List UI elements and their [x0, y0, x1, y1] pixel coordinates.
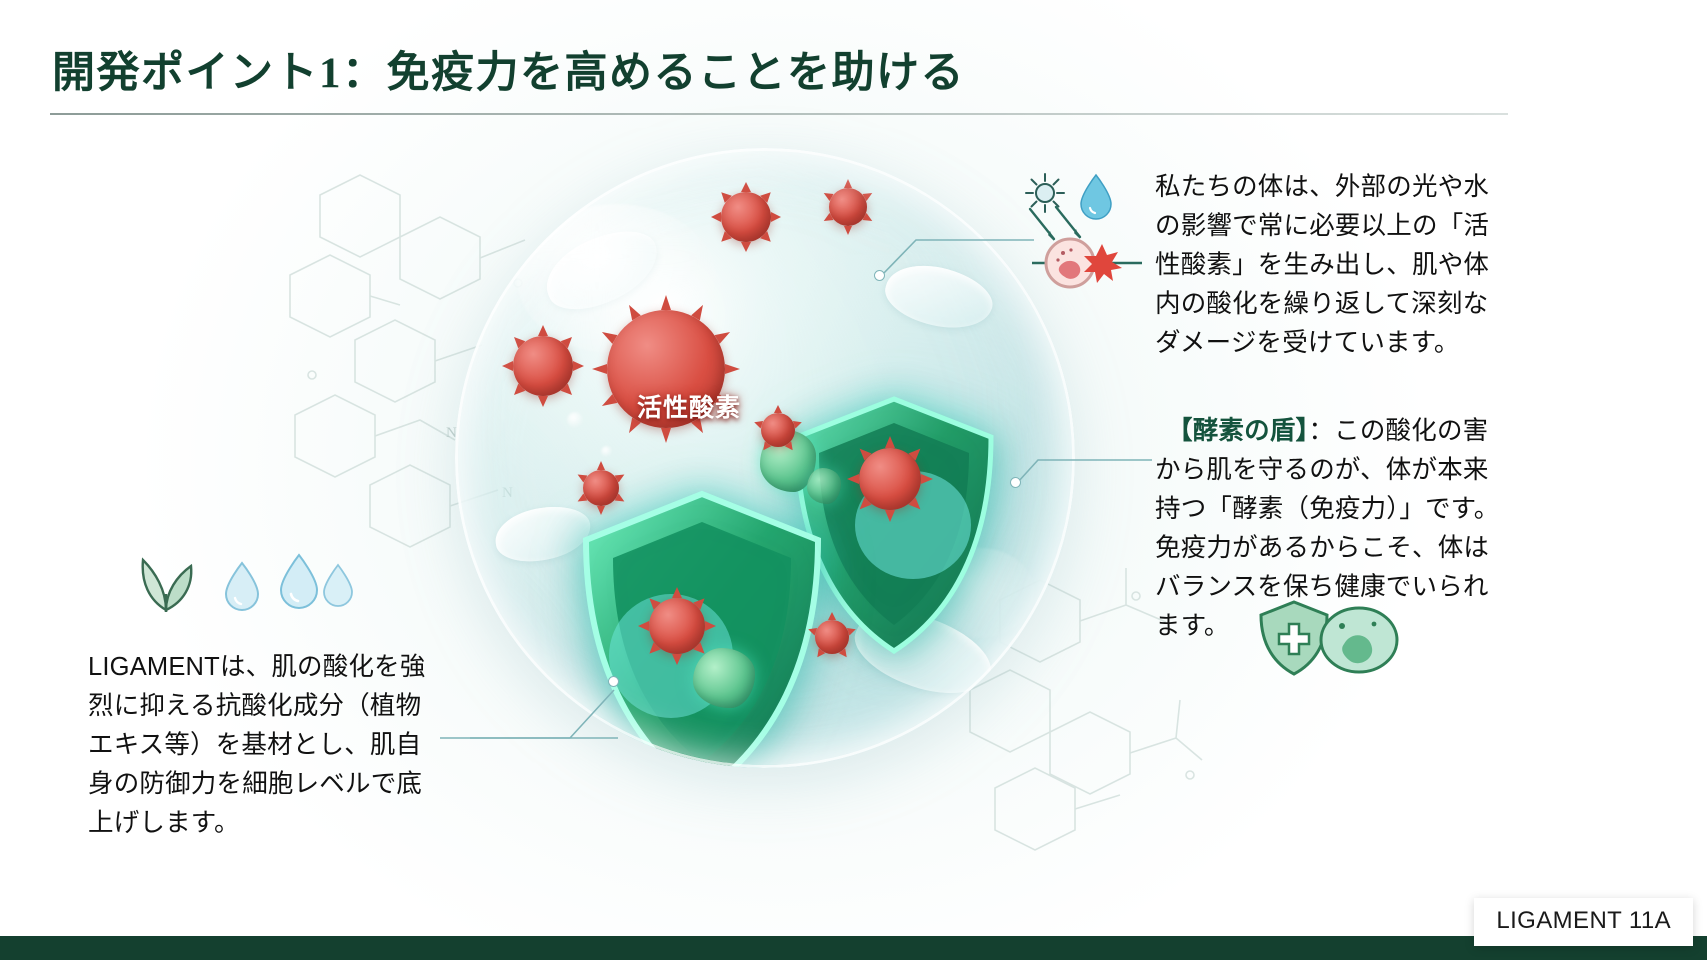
skin-cell-damage-icon	[1032, 232, 1142, 290]
water-drop-icon	[321, 562, 355, 608]
reactive-oxygen-virus-shielded-right	[859, 448, 921, 510]
callout-ligament-body: LIGAMENTは、肌の酸化を強烈に抑える抗酸化成分（植物エキス等）を基材とし、…	[88, 653, 426, 837]
cell-icon	[1318, 604, 1400, 676]
enzyme-cluster	[760, 430, 816, 492]
water-blob	[492, 502, 594, 567]
leader-line-oxidation	[876, 200, 1036, 290]
enzyme-cluster	[693, 648, 755, 708]
reactive-oxygen-virus	[829, 188, 867, 226]
leader-anchor-ligament	[608, 676, 619, 687]
reactive-oxygen-virus	[761, 413, 795, 447]
title-divider	[50, 113, 1508, 115]
leader-line-enzyme	[1012, 440, 1154, 500]
footer-bar	[0, 936, 1707, 960]
callout-enzyme-lead: 【酵素の盾】	[1167, 417, 1308, 445]
bubble-highlight	[517, 204, 717, 354]
bubble-sparkle	[975, 448, 988, 461]
water-blob	[535, 218, 668, 322]
water-blob	[631, 658, 729, 724]
bubble-sparkle	[567, 412, 583, 428]
brand-badge: LIGAMENT 11A	[1474, 898, 1693, 946]
reactive-oxygen-virus	[721, 192, 771, 242]
page-title: 開発ポイント1：免疫力を高めることを助ける	[52, 38, 965, 100]
leader-line-ligament	[440, 680, 620, 750]
reactive-oxygen-label: 活性酸素	[637, 388, 741, 424]
brand-label: LIGAMENT 11A	[1496, 907, 1671, 934]
slide-canvas: 開発ポイント1：免疫力を高めることを助ける N N	[0, 0, 1707, 960]
enzyme-shield-right	[787, 393, 1002, 658]
leader-anchor-oxidation	[874, 270, 885, 281]
bubble-highlight	[925, 548, 1035, 638]
reactive-oxygen-virus	[513, 336, 573, 396]
callout-oxidation-damage: 私たちの体は、外部の光や水の影響で常に必要以上の「活性酸素」を生み出し、肌や体内…	[1155, 168, 1510, 363]
water-drop-icon	[277, 552, 321, 610]
callout-oxidation-body: 私たちの体は、外部の光や水の影響で常に必要以上の「活性酸素」を生み出し、肌や体内…	[1155, 173, 1489, 357]
reactive-oxygen-virus	[583, 470, 619, 506]
enzyme-cluster	[807, 468, 841, 504]
water-blob	[845, 594, 1001, 711]
callout-ligament-antioxidant: LIGAMENTは、肌の酸化を強烈に抑える抗酸化成分（植物エキス等）を基材とし、…	[88, 648, 433, 843]
bubble-sparkle	[601, 446, 612, 457]
reactive-oxygen-virus	[815, 620, 849, 654]
leader-anchor-enzyme	[1010, 477, 1021, 488]
reactive-oxygen-virus-main	[607, 310, 725, 428]
water-drop-icon	[222, 560, 262, 612]
leaf-icon	[133, 550, 199, 612]
reactive-oxygen-virus-shielded-left	[649, 598, 705, 654]
